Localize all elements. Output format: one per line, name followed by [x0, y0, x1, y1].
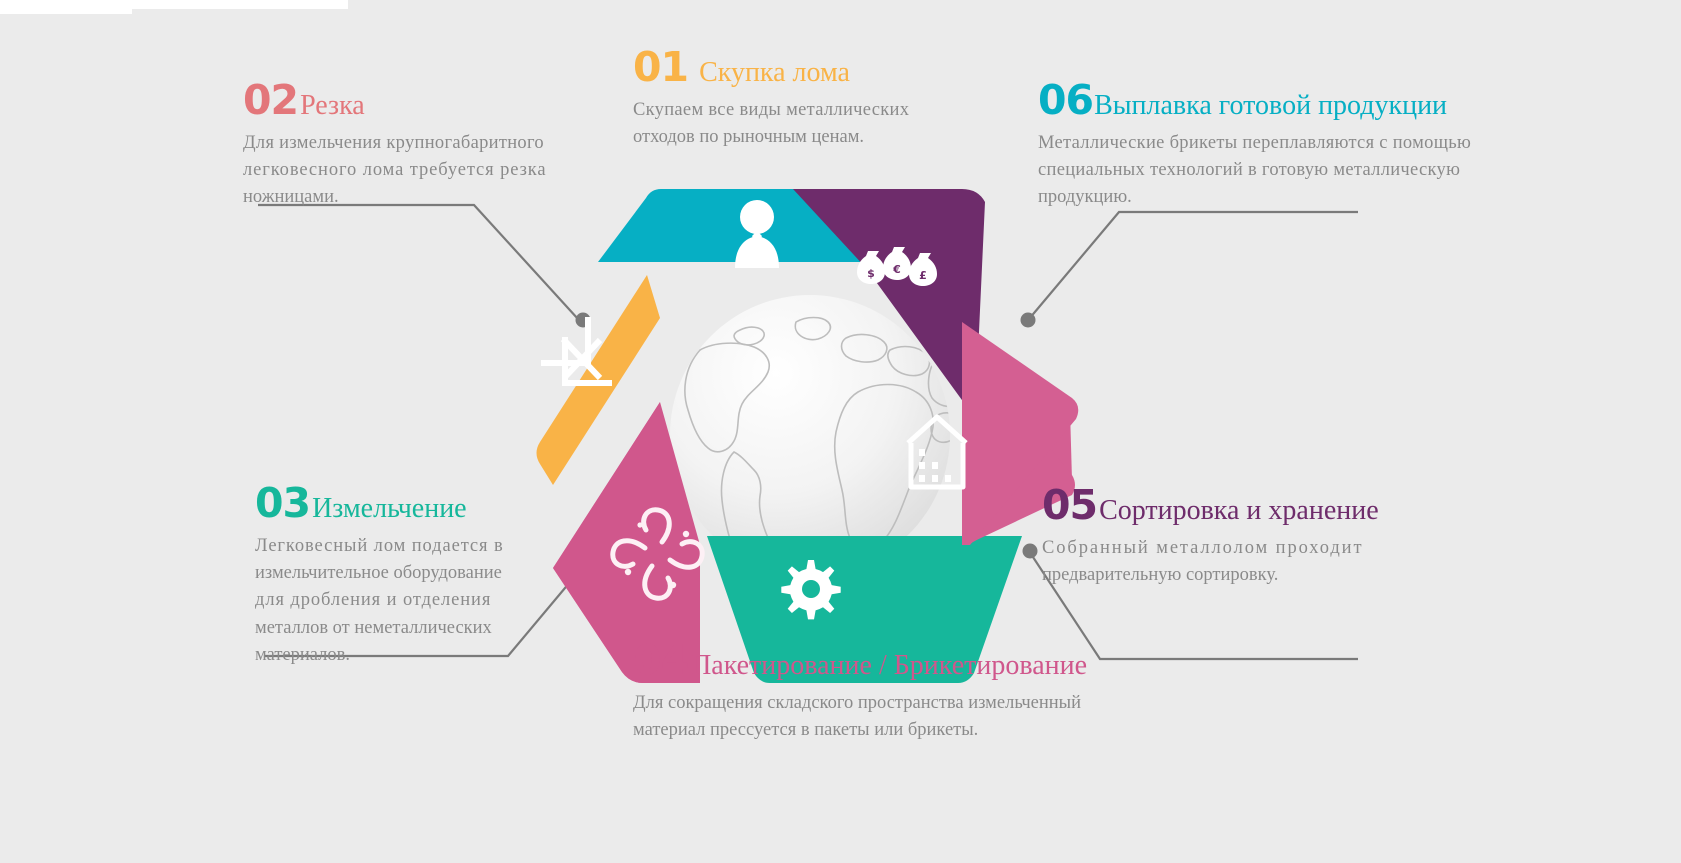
step-05-number: 05 [1042, 485, 1097, 526]
step-01-number: 01 [633, 47, 688, 88]
step-block-05: 05 Сортировка и хранение Собранный метал… [1042, 485, 1472, 589]
step-block-06: 06 Выплавка готовой продукции Металличес… [1038, 80, 1538, 212]
step-04-desc-line-1: Для сокращения складского пространства и… [633, 690, 1133, 717]
step-02-description: Для измельчения крупногабаритного легков… [243, 130, 615, 212]
step-02-desc-line-2: легковесного лома требуется резка [243, 157, 615, 184]
step-06-title: Выплавка готовой продукции [1094, 92, 1447, 120]
step-02-title: Резка [300, 92, 365, 120]
svg-text:€: € [892, 263, 901, 276]
step-05-heading: 05 Сортировка и хранение [1042, 485, 1472, 526]
step-03-desc-line-4: металлов от неметаллических [255, 615, 540, 642]
infographic-canvas: $ € £ [0, 0, 1681, 863]
step-02-number: 02 [243, 80, 298, 121]
step-block-03: 03 Измельчение Легковесный лом подается … [255, 483, 540, 669]
step-03-heading: 03 Измельчение [255, 483, 540, 524]
step-04-desc-line-2: материал прессуется в пакеты или брикеты… [633, 717, 1133, 744]
step-06-description: Металлические брикеты переплавляются с п… [1038, 130, 1538, 212]
step-03-number: 03 [255, 483, 310, 524]
step-01-title: Скупка лома [699, 59, 850, 87]
step-02-desc-line-1: Для измельчения крупногабаритного [243, 130, 615, 157]
step-06-desc-line-1: Металлические брикеты переплавляются с п… [1038, 130, 1538, 157]
step-01-heading: 01 Скупка лома [633, 47, 993, 88]
step-04-heading: 04 Пакетирование / Брикетирование [633, 640, 1133, 681]
step-03-desc-line-3: для дробления и отделения [255, 587, 540, 614]
step-03-description: Легковесный лом подается в измельчительн… [255, 533, 540, 669]
step-04-title: Пакетирование / Брикетирование [691, 652, 1087, 680]
step-06-heading: 06 Выплавка готовой продукции [1038, 80, 1538, 121]
svg-text:$: $ [867, 267, 875, 280]
step-block-04: 04 Пакетирование / Брикетирование Для со… [633, 640, 1133, 744]
gear-icon [781, 560, 840, 619]
step-04-description: Для сокращения складского пространства и… [633, 690, 1133, 744]
svg-text:£: £ [919, 269, 927, 282]
step-06-desc-line-3: продукцию. [1038, 184, 1538, 211]
step-05-title: Сортировка и хранение [1099, 497, 1379, 525]
step-03-desc-line-1: Легковесный лом подается в [255, 533, 540, 560]
step-block-02: 02 Резка Для измельчения крупногабаритно… [243, 80, 615, 212]
step-06-desc-line-2: специальных технологий в готовую металли… [1038, 157, 1538, 184]
step-02-heading: 02 Резка [243, 80, 615, 121]
step-05-desc-line-2: предварительную сортировку. [1042, 562, 1472, 589]
step-01-desc-line-2: отходов по рыночным ценам. [633, 124, 993, 151]
step-02-desc-line-3: ножницами. [243, 184, 615, 211]
step-05-desc-line-1: Собранный металлолом проходит [1042, 535, 1472, 562]
step-03-desc-line-2: измельчительное оборудование [255, 560, 540, 587]
step-03-title: Измельчение [312, 495, 467, 523]
step-04-number: 04 [633, 640, 688, 681]
step-05-description: Собранный металлолом проходит предварите… [1042, 535, 1472, 589]
step-block-01: 01 Скупка лома Скупаем все виды металлич… [633, 47, 993, 151]
step-03-desc-line-5: материалов. [255, 642, 540, 669]
step-01-desc-line-1: Скупаем все виды металлических [633, 97, 993, 124]
step-01-description: Скупаем все виды металлических отходов п… [633, 97, 993, 151]
step-06-number: 06 [1038, 80, 1093, 121]
